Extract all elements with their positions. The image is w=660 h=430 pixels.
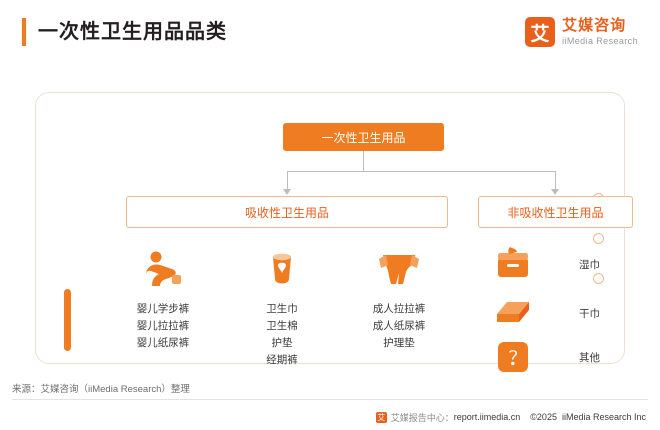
group-feminine-item-list: 卫生巾 卫生棉 护垫 经期裤 (232, 301, 332, 369)
report-center-label: 艾媒报告中心： (391, 411, 454, 424)
connector-arrow-b (551, 189, 559, 195)
list-item: 婴儿纸尿裤 (113, 335, 213, 352)
item-other: 其他 (491, 336, 600, 378)
group-adult-products: 成人拉拉裤 成人纸尿裤 护理垫 (349, 241, 449, 352)
copyright-year: ©2025 (530, 412, 557, 422)
connector-branch-a-vertical (287, 171, 288, 189)
list-item: 护理垫 (349, 335, 449, 352)
page-footer: 艾 艾媒报告中心： report.iimedia.cn ©2025 iiMedi… (0, 404, 660, 430)
connector-horizontal (287, 171, 556, 172)
other-question-icon (491, 336, 535, 378)
connector-arrow-a (283, 189, 291, 195)
page-title: 一次性卫生用品品类 (38, 18, 227, 46)
list-item: 成人拉拉裤 (349, 301, 449, 318)
list-item: 成人纸尿裤 (349, 318, 449, 335)
report-center: 艾 艾媒报告中心： report.iimedia.cn (376, 411, 521, 424)
footer-divider (12, 399, 648, 400)
item-wet-wipes: 湿巾 (491, 243, 600, 285)
list-item: 护垫 (232, 335, 332, 352)
node-non-absorbent: 非吸收性卫生用品 (478, 196, 633, 228)
sanitary-napkin-icon (232, 241, 332, 289)
adult-pants-icon (349, 241, 449, 289)
connector-branch-b-vertical (555, 171, 556, 189)
page-header: 一次性卫生用品品类 艾 艾媒咨询 iiMedia Research (0, 0, 660, 66)
group-baby-products: 婴儿学步裤 婴儿拉拉裤 婴儿纸尿裤 (113, 241, 213, 352)
list-item: 卫生棉 (232, 318, 332, 335)
group-baby-item-list: 婴儿学步裤 婴儿拉拉裤 婴儿纸尿裤 (113, 301, 213, 352)
brand-logo: 艾 艾媒咨询 iiMedia Research (525, 14, 638, 50)
report-url[interactable]: report.iimedia.cn (454, 412, 521, 422)
item-label: 其他 (579, 350, 600, 365)
node-absorbent: 吸收性卫生用品 (126, 196, 448, 228)
logo-mark-icon: 艾 (525, 17, 555, 47)
group-adult-item-list: 成人拉拉裤 成人纸尿裤 护理垫 (349, 301, 449, 352)
copyright: ©2025 iiMedia Research Inc (530, 412, 646, 422)
node-root: 一次性卫生用品 (283, 123, 444, 151)
title-accent-bar (22, 18, 26, 46)
logo-title-cn: 艾媒咨询 (562, 17, 638, 34)
footer-logo-icon: 艾 (376, 412, 387, 423)
list-item: 婴儿拉拉裤 (113, 318, 213, 335)
list-item: 卫生巾 (232, 301, 332, 318)
slide-page: 一次性卫生用品品类 艾 艾媒咨询 iiMedia Research 一次性卫生用… (0, 0, 660, 430)
dry-towel-icon (491, 292, 535, 334)
source-note: 来源：艾媒咨询（iiMedia Research）整理 (12, 381, 190, 395)
group-feminine-products: 卫生巾 卫生棉 护垫 经期裤 (232, 241, 332, 369)
diagram-panel: 一次性卫生用品 吸收性卫生用品 非吸收性卫生用品 婴儿学步裤 婴儿拉拉裤 婴儿纸… (35, 92, 625, 364)
list-item: 婴儿学步裤 (113, 301, 213, 318)
logo-title-en: iiMedia Research (562, 35, 638, 47)
baby-pants-icon (113, 241, 213, 289)
list-item: 经期裤 (232, 352, 332, 369)
connector-root-vertical (363, 151, 364, 171)
panel-accent-bar (64, 289, 71, 351)
logo-text: 艾媒咨询 iiMedia Research (562, 17, 638, 47)
wet-wipes-icon (491, 243, 535, 285)
item-label: 干巾 (579, 306, 600, 321)
item-label: 湿巾 (579, 257, 600, 272)
item-dry-towel: 干巾 (491, 292, 600, 334)
company-name: iiMedia Research Inc (562, 412, 646, 422)
